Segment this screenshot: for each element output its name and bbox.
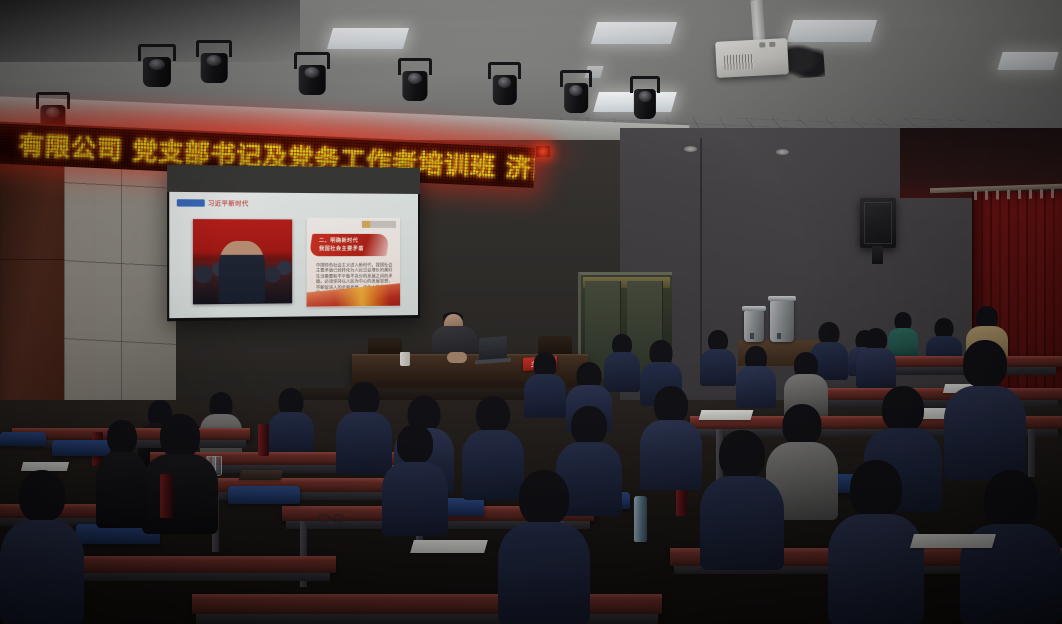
spotlight-lens bbox=[304, 67, 319, 78]
slide-photo-speaker bbox=[219, 241, 265, 304]
ceiling-panel-light bbox=[327, 28, 409, 49]
person-head bbox=[963, 340, 1007, 388]
chair[interactable] bbox=[228, 486, 300, 504]
acoustic-wall-panels bbox=[64, 155, 176, 423]
person-head bbox=[984, 470, 1038, 530]
person-head bbox=[654, 386, 688, 424]
person-torso bbox=[828, 514, 924, 624]
projection-screen: 习近平新时代 二、明确新时代 我国社会主要矛盾 中国特色社会主义进入新时代，我国… bbox=[167, 165, 420, 322]
person-torso bbox=[700, 476, 784, 570]
slide-text-panel: 二、明确新时代 我国社会主要矛盾 中国特色社会主义进入新时代，我国社会主要矛盾已… bbox=[307, 217, 400, 307]
conference-room-photo: 有限公司 党支部书记及党务工作者培训班 济南黄河路桥建设集 习近平新时代 二、明… bbox=[0, 0, 1062, 624]
audience-member bbox=[700, 430, 784, 570]
spotlight-lens bbox=[639, 91, 652, 102]
ceiling-panel-light bbox=[997, 52, 1058, 70]
screen-top-band bbox=[167, 165, 420, 194]
audience-member bbox=[944, 340, 1026, 480]
person-torso bbox=[0, 520, 84, 624]
ceiling-downlight bbox=[684, 146, 697, 152]
spotlight-lens bbox=[498, 77, 512, 88]
ceiling-panel-light bbox=[591, 22, 677, 44]
person-torso bbox=[142, 454, 218, 534]
wall-speaker bbox=[860, 198, 896, 248]
person-head bbox=[519, 470, 569, 526]
stage-spotlight bbox=[294, 52, 330, 100]
projector bbox=[715, 38, 789, 78]
paper-sheet bbox=[910, 534, 996, 548]
person-head bbox=[850, 460, 902, 518]
audience-member bbox=[96, 420, 148, 528]
slide-logo bbox=[362, 220, 396, 227]
stage-spotlight bbox=[196, 40, 232, 88]
person-torso bbox=[736, 366, 776, 408]
spotlight-lens bbox=[206, 55, 221, 66]
stage-spotlight bbox=[398, 58, 432, 104]
slide-title-line2: 我国社会主要矛盾 bbox=[319, 245, 364, 252]
slide-photo bbox=[193, 219, 292, 304]
person-head bbox=[476, 396, 510, 433]
person-head bbox=[107, 420, 137, 454]
person-head bbox=[397, 424, 433, 464]
paper-sheet bbox=[410, 540, 488, 553]
speaker-bracket bbox=[872, 246, 883, 264]
water-urn bbox=[770, 300, 794, 342]
person-torso bbox=[498, 522, 590, 624]
slide-title-line1: 二、明确新时代 bbox=[319, 236, 358, 243]
person-head bbox=[160, 414, 200, 458]
person-torso bbox=[944, 386, 1026, 480]
audience-member bbox=[700, 330, 736, 386]
ceiling-downlight bbox=[776, 149, 789, 155]
eyeglasses bbox=[318, 514, 344, 521]
person-torso bbox=[700, 349, 736, 386]
person-head bbox=[882, 386, 924, 432]
presenter-cup bbox=[400, 352, 410, 366]
thermos-bottle bbox=[258, 424, 269, 456]
presentation-slide: 习近平新时代 二、明确新时代 我国社会主要矛盾 中国特色社会主义进入新时代，我国… bbox=[169, 191, 418, 318]
desk bbox=[192, 594, 662, 614]
audience-member bbox=[736, 346, 776, 408]
audience-member bbox=[268, 388, 314, 460]
spotlight-lens bbox=[149, 59, 165, 70]
stage-spotlight bbox=[560, 70, 592, 112]
person-torso bbox=[96, 452, 148, 528]
stage-spotlight bbox=[138, 44, 176, 92]
person-head bbox=[719, 430, 765, 480]
audience-member bbox=[142, 414, 218, 534]
person-torso bbox=[856, 348, 896, 388]
urn-lid bbox=[768, 296, 796, 301]
projector-knob bbox=[759, 42, 765, 47]
projector-vent bbox=[724, 54, 755, 71]
audience-member bbox=[382, 424, 448, 536]
chair[interactable] bbox=[0, 432, 46, 446]
urn-tap[interactable] bbox=[777, 333, 781, 339]
thermos-bottle bbox=[160, 474, 173, 518]
slide-header-text: 习近平新时代 bbox=[208, 198, 249, 208]
audience-member bbox=[828, 460, 924, 624]
urn-lid bbox=[742, 306, 766, 311]
audience-member bbox=[498, 470, 590, 624]
water-urn bbox=[744, 310, 764, 342]
paper-sheet bbox=[699, 410, 754, 420]
audience-member bbox=[0, 470, 84, 624]
slide-accent-bar bbox=[177, 199, 205, 206]
led-indicator-light bbox=[536, 146, 550, 157]
notebook bbox=[239, 470, 283, 480]
audience-member bbox=[856, 328, 896, 388]
urn-tap[interactable] bbox=[750, 333, 754, 339]
projector-knob bbox=[769, 42, 775, 47]
person-head bbox=[571, 406, 607, 445]
person-head bbox=[19, 470, 65, 522]
stage-spotlight bbox=[488, 62, 521, 106]
presenter-hands bbox=[447, 352, 467, 363]
person-head bbox=[783, 404, 822, 446]
person-head bbox=[349, 382, 380, 416]
person-torso bbox=[640, 420, 702, 490]
stage-spotlight bbox=[630, 76, 660, 116]
audience-member bbox=[640, 386, 702, 490]
water-bottle bbox=[634, 496, 647, 542]
person-torso bbox=[382, 462, 448, 536]
ceiling-panel-light bbox=[787, 20, 877, 42]
